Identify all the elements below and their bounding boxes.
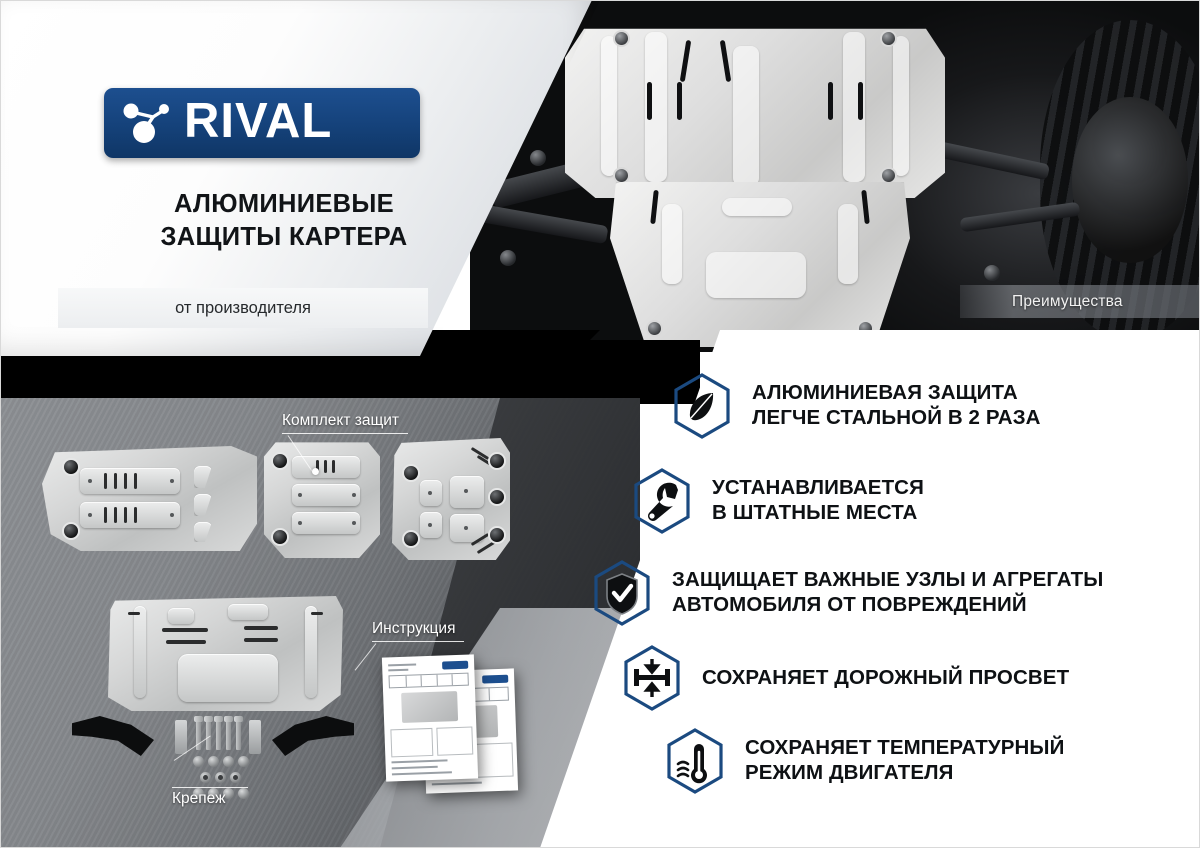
- installed-skid-plate-lower: [610, 182, 910, 347]
- mounting-bracket-right: [272, 716, 354, 756]
- callout-instruction: Инструкция: [372, 620, 464, 642]
- feature-item-3: СОХРАНЯЕТ ДОРОЖНЫЙ ПРОСВЕТ: [622, 645, 1069, 711]
- underbody-photo: Преимущества: [470, 0, 1200, 352]
- brand-name: RIVAL: [184, 97, 332, 150]
- advantages-badge: Преимущества: [960, 285, 1200, 318]
- feature-label-4: СОХРАНЯЕТ ТЕМПЕРАТУРНЫЙ РЕЖИМ ДВИГАТЕЛЯ: [745, 736, 1064, 785]
- product-showcase: Комплект защит Инструкция Крепеж: [0, 398, 640, 848]
- skid-plate-1: [42, 446, 257, 551]
- feature-label-0: АЛЮМИНИЕВАЯ ЗАЩИТА ЛЕГЧЕ СТАЛЬНОЙ В 2 РА…: [752, 381, 1041, 430]
- skid-plate-3: [392, 438, 510, 560]
- leaf-icon: [672, 373, 732, 439]
- callout-kit-label: Комплект защит: [282, 412, 408, 430]
- molecule-icon: [120, 98, 174, 148]
- instruction-sheet-front: [382, 654, 478, 781]
- feature-label-3: СОХРАНЯЕТ ДОРОЖНЫЙ ПРОСВЕТ: [702, 666, 1069, 691]
- feature-item-1: УСТАНАВЛИВАЕТСЯ В ШТАТНЫЕ МЕСТА: [632, 468, 924, 534]
- advantages-badge-label: Преимущества: [960, 293, 1123, 311]
- subtitle-bar: от производителя: [58, 288, 428, 328]
- wrench-icon: [632, 468, 692, 534]
- chassis-bolt: [984, 265, 1000, 281]
- feature-label-2: ЗАЩИЩАЕТ ВАЖНЫЕ УЗЛЫ И АГРЕГАТЫ АВТОМОБИ…: [672, 568, 1103, 617]
- callout-kit: Комплект защит: [282, 412, 408, 434]
- skid-plate-2: [264, 440, 380, 558]
- skid-plate-main: [108, 596, 343, 711]
- callout-hardware: Крепеж: [172, 784, 248, 808]
- brand-logo: RIVAL: [104, 88, 420, 158]
- subtitle-text: от производителя: [175, 299, 311, 318]
- suspension-arm: [477, 204, 608, 244]
- feature-label-1: УСТАНАВЛИВАЕТСЯ В ШТАТНЫЕ МЕСТА: [712, 476, 924, 525]
- shield-check-icon: [592, 560, 652, 626]
- chassis-bolt: [530, 150, 546, 166]
- installed-skid-plate-upper: [565, 18, 945, 198]
- promo-banner: Преимущества RIVAL АЛЮМИНИЕВЫЕ ЗАЩИТЫ КА…: [0, 0, 1200, 848]
- feature-item-2: ЗАЩИЩАЕТ ВАЖНЫЕ УЗЛЫ И АГРЕГАТЫ АВТОМОБИ…: [592, 560, 1103, 626]
- chassis-bolt: [500, 250, 516, 266]
- callout-instruction-label: Инструкция: [372, 620, 464, 638]
- thermometer-icon: [665, 728, 725, 794]
- callout-hardware-label: Крепеж: [172, 790, 248, 808]
- feature-item-0: АЛЮМИНИЕВАЯ ЗАЩИТА ЛЕГЧЕ СТАЛЬНОЙ В 2 РА…: [672, 373, 1041, 439]
- feature-item-4: СОХРАНЯЕТ ТЕМПЕРАТУРНЫЙ РЕЖИМ ДВИГАТЕЛЯ: [665, 728, 1064, 794]
- page-title: АЛЮМИНИЕВЫЕ ЗАЩИТЫ КАРТЕРА: [104, 188, 464, 253]
- mounting-bracket-left: [72, 716, 154, 756]
- ground-clearance-icon: [622, 645, 682, 711]
